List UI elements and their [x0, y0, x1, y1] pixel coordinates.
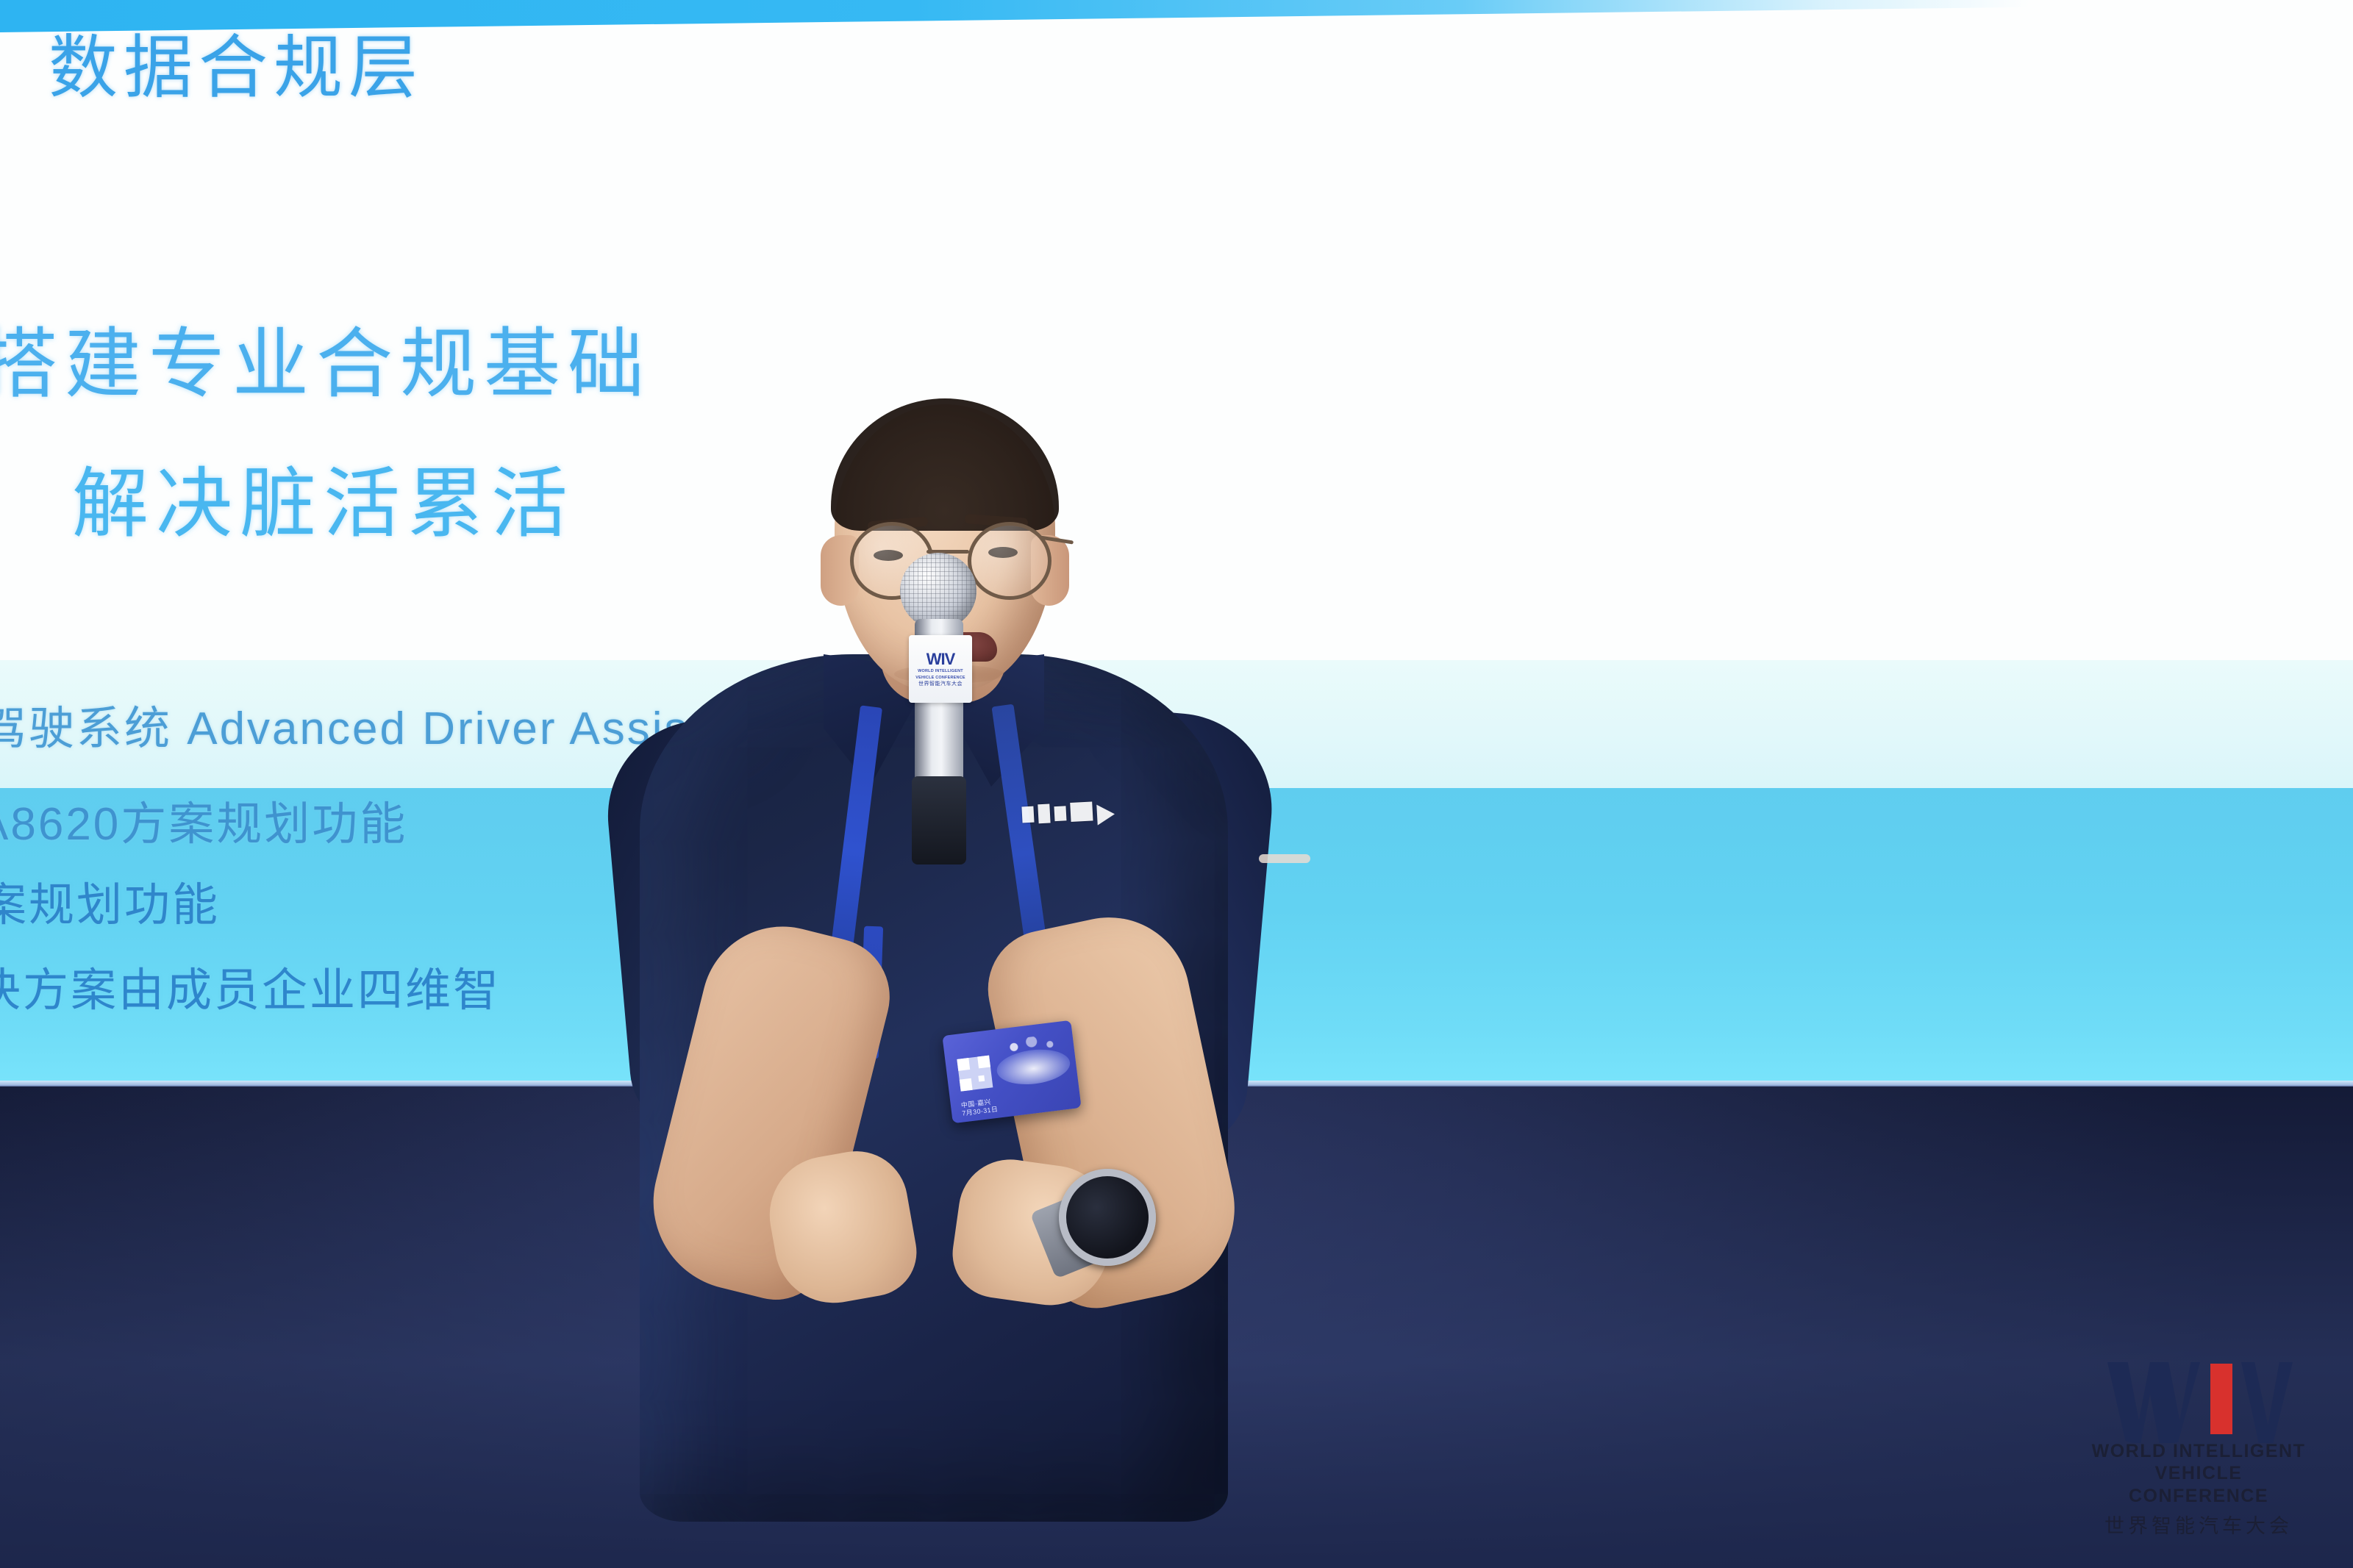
badge-text: 中国·嘉兴 7月30-31日: [960, 1097, 999, 1117]
wiv-letter-v: [2241, 1362, 2293, 1443]
wiv-logo-mark: [2103, 1362, 2294, 1433]
microphone-wiv-mark: WIV: [926, 651, 955, 667]
slide-subhead-2: 解决脏活累活: [72, 441, 575, 552]
wiv-letter-i: [2210, 1364, 2232, 1434]
wiv-letter-w: [2107, 1362, 2200, 1443]
microphone-en-line2: VEHICLE CONFERENCE: [915, 676, 965, 681]
wiv-cn-line: 世界智能汽车大会: [2104, 1510, 2293, 1539]
speaker-figure: WIV WORLD INTELLIGENT VEHICLE CONFERENCE…: [603, 412, 1265, 1568]
speaker-teeth: [1259, 854, 1310, 863]
badge-qr-code-icon: [957, 1056, 993, 1092]
wiv-en-line-1: WORLD INTELLIGENT: [2092, 1440, 2306, 1463]
microphone-grille: [900, 553, 976, 629]
wiv-watermark-logo: WORLD INTELLIGENT VEHICLE CONFERENCE 世界智…: [2088, 1362, 2309, 1539]
slide-body-line-3: 案规划功能: [0, 867, 220, 934]
slide-body-line-4: 决方案由成员企业四维智: [0, 953, 501, 1019]
microphone-handle: [912, 776, 966, 864]
wiv-en-line-2: VEHICLE CONFERENCE: [2088, 1462, 2309, 1507]
shirt-brand-arrow-icon: [1096, 803, 1115, 825]
slide-body-line-2: A8620方案规划功能: [0, 787, 407, 853]
conference-badge: 中国·嘉兴 7月30-31日: [942, 1020, 1081, 1124]
badge-car-graphic: [995, 1045, 1072, 1088]
microphone-cn-label: 世界智能汽车大会: [918, 681, 963, 687]
microphone-en-line1: WORLD INTELLIGENT: [918, 669, 963, 674]
slide-subhead-1: 搭建专业合规基础: [0, 301, 651, 412]
slide-title: 数据合规层: [49, 26, 424, 110]
microphone-logo-flag: WIV WORLD INTELLIGENT VEHICLE CONFERENCE…: [909, 635, 972, 703]
screenshot-root: 数据合规层 搭建专业合规基础 解决脏活累活 驾驶系统 Advanced Driv…: [0, 0, 2353, 1568]
eyeglass-lens-right: [968, 522, 1051, 600]
speaker-hair: [831, 398, 1059, 531]
